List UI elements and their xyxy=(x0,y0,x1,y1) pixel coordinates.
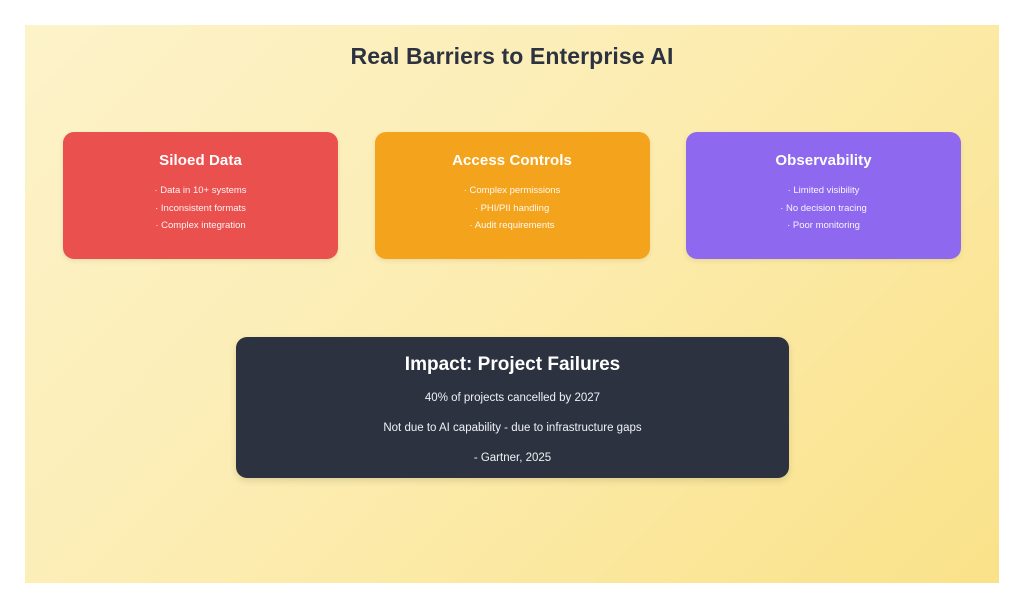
impact-statistic: 40% of projects cancelled by 2027 xyxy=(236,390,789,406)
barrier-card-title: Observability xyxy=(686,152,961,169)
barrier-card-title: Siloed Data xyxy=(63,152,338,169)
impact-attribution: - Gartner, 2025 xyxy=(236,450,789,466)
barrier-card-bullets: · Data in 10+ systems · Inconsistent for… xyxy=(63,182,338,235)
impact-panel[interactable]: Impact: Project Failures 40% of projects… xyxy=(236,337,789,478)
barrier-bullet: · Inconsistent formats xyxy=(63,200,338,218)
barrier-bullet: · Complex integration xyxy=(63,217,338,235)
barrier-bullet: · No decision tracing xyxy=(686,200,961,218)
barrier-card-row: Siloed Data · Data in 10+ systems · Inco… xyxy=(63,132,961,259)
page-title: Real Barriers to Enterprise AI xyxy=(25,43,999,70)
barrier-bullet: · Data in 10+ systems xyxy=(63,182,338,200)
barrier-card-siloed-data[interactable]: Siloed Data · Data in 10+ systems · Inco… xyxy=(63,132,338,259)
barrier-bullet: · Limited visibility xyxy=(686,182,961,200)
barrier-bullet: · PHI/PII handling xyxy=(375,200,650,218)
slide-canvas: Real Barriers to Enterprise AI Siloed Da… xyxy=(25,25,999,583)
barrier-card-access-controls[interactable]: Access Controls · Complex permissions · … xyxy=(375,132,650,259)
barrier-bullet: · Poor monitoring xyxy=(686,217,961,235)
impact-explanation: Not due to AI capability - due to infras… xyxy=(236,420,789,436)
impact-panel-title: Impact: Project Failures xyxy=(236,354,789,376)
barrier-bullet: · Complex permissions xyxy=(375,182,650,200)
barrier-card-bullets: · Limited visibility · No decision traci… xyxy=(686,182,961,235)
barrier-card-bullets: · Complex permissions · PHI/PII handling… xyxy=(375,182,650,235)
barrier-card-title: Access Controls xyxy=(375,152,650,169)
barrier-card-observability[interactable]: Observability · Limited visibility · No … xyxy=(686,132,961,259)
barrier-bullet: · Audit requirements xyxy=(375,217,650,235)
